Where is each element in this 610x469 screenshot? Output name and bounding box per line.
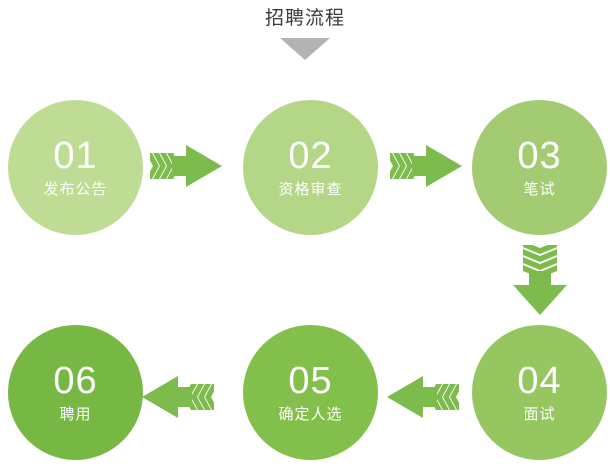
- arrow-down-icon: [505, 245, 575, 322]
- arrow-right-icon: [390, 141, 464, 196]
- flow-step-01[interactable]: 01 发布公告: [8, 100, 143, 235]
- flow-step-02[interactable]: 02 资格审查: [243, 100, 378, 235]
- arrow-left-icon: [140, 372, 214, 427]
- diagram-header: 招聘流程: [0, 6, 610, 60]
- flow-step-06[interactable]: 06 聘用: [8, 325, 143, 460]
- step-label: 确定人选: [278, 405, 342, 425]
- step-label: 发布公告: [43, 180, 107, 200]
- step-number: 01: [53, 136, 97, 176]
- step-number: 02: [288, 136, 332, 176]
- arrow-right-icon: [150, 141, 224, 196]
- recruitment-flow-diagram: 招聘流程 01 发布公告 02 资格审查 03 笔试 04 面试 05 确定人选…: [0, 0, 610, 469]
- step-number: 03: [517, 136, 561, 176]
- step-label: 笔试: [523, 180, 555, 200]
- flow-step-05[interactable]: 05 确定人选: [243, 325, 378, 460]
- step-label: 面试: [523, 405, 555, 425]
- step-label: 资格审查: [278, 180, 342, 200]
- step-label: 聘用: [59, 405, 91, 425]
- step-number: 04: [517, 361, 561, 401]
- flow-step-04[interactable]: 04 面试: [472, 325, 607, 460]
- step-number: 06: [53, 361, 97, 401]
- triangle-down-icon: [280, 38, 330, 60]
- page-title: 招聘流程: [0, 6, 610, 32]
- arrow-left-icon: [385, 372, 459, 427]
- flow-step-03[interactable]: 03 笔试: [472, 100, 607, 235]
- step-number: 05: [288, 361, 332, 401]
